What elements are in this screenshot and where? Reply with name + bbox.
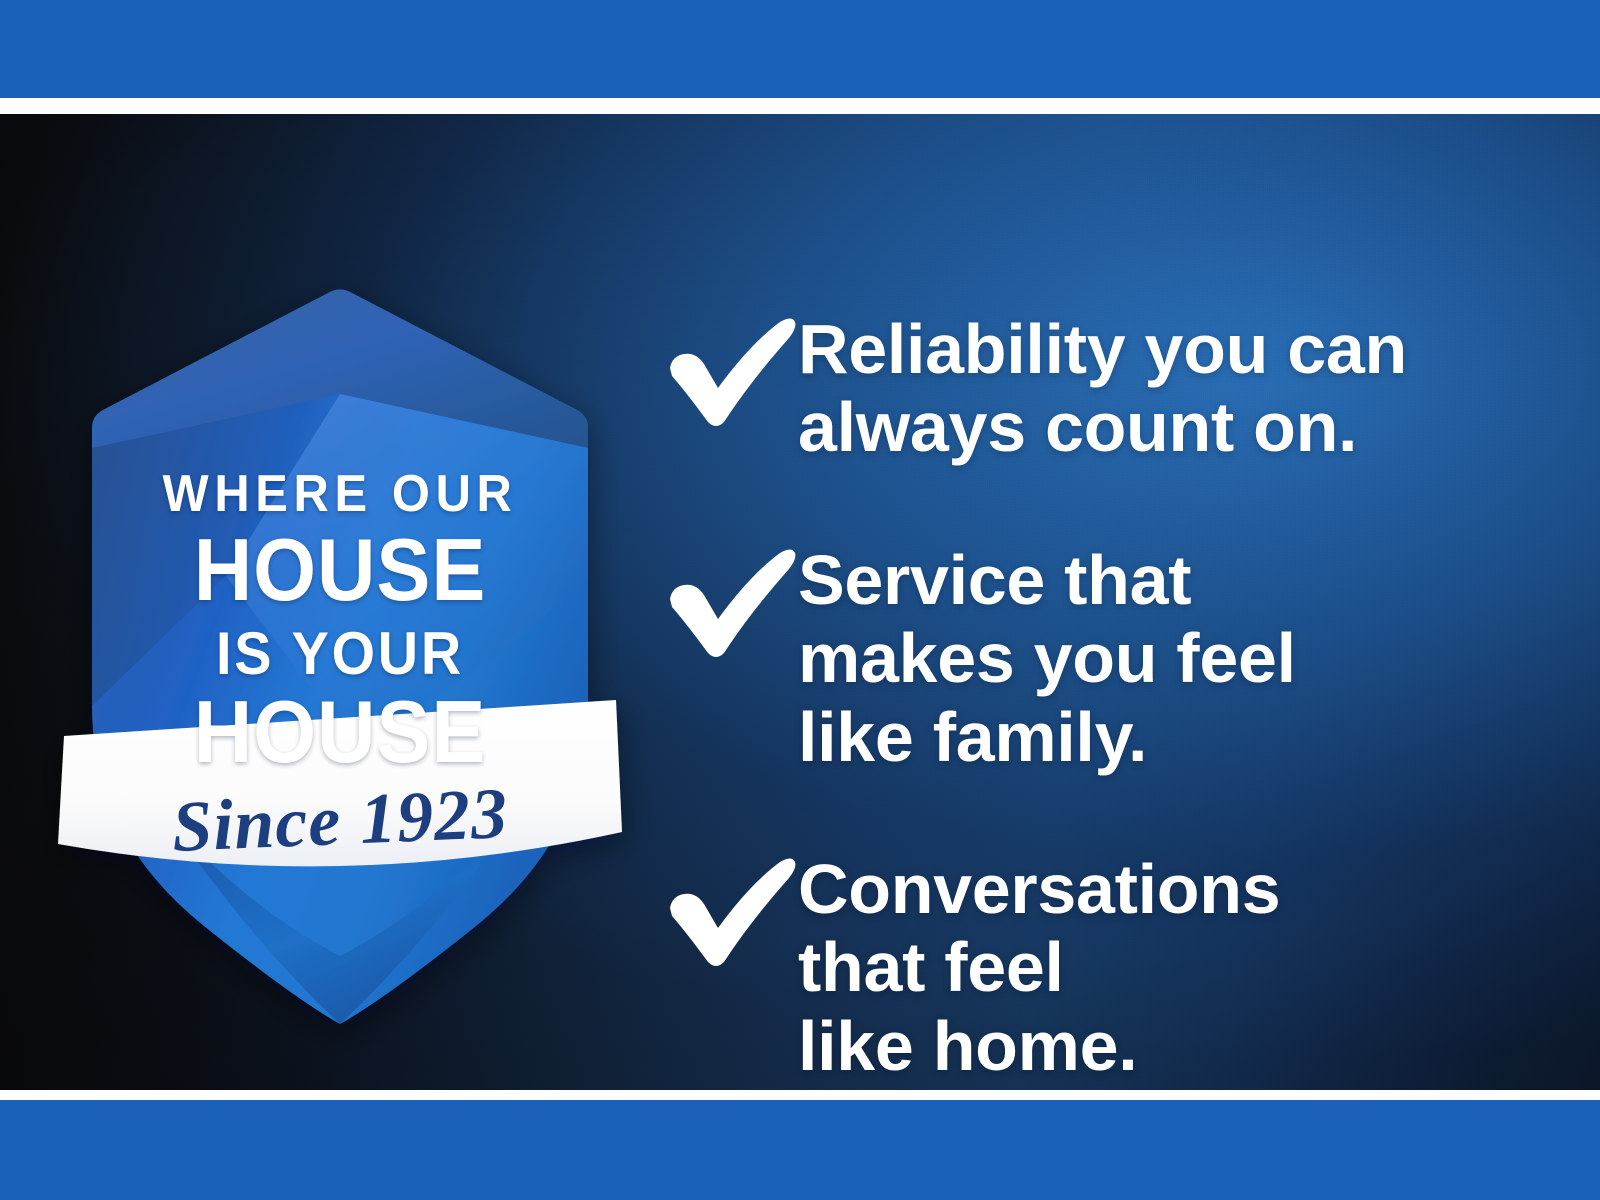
shield-line-where-our: Where our bbox=[73, 468, 607, 520]
list-item-label: Conversations that feel like home. bbox=[798, 850, 1562, 1085]
main-panel: Where our House Is your House Since 1923… bbox=[0, 114, 1600, 1090]
shield-line-house-top: House bbox=[79, 526, 602, 614]
list-item: Service that makes you feel like family. bbox=[662, 541, 1562, 776]
checkmark-icon bbox=[662, 547, 798, 659]
shield-line-house-bottom: House bbox=[79, 688, 602, 776]
checkmark-icon bbox=[662, 856, 798, 968]
bottom-brand-bar bbox=[0, 1100, 1600, 1200]
list-item-label: Service that makes you feel like family. bbox=[798, 541, 1562, 776]
shield-emblem: Where our House Is your House Since 1923 bbox=[56, 276, 624, 956]
benefits-list: Reliability you can always count on. Ser… bbox=[662, 310, 1562, 1085]
list-item: Conversations that feel like home. bbox=[662, 850, 1562, 1085]
top-brand-bar bbox=[0, 0, 1600, 98]
list-item: Reliability you can always count on. bbox=[662, 310, 1562, 467]
promo-graphic-canvas: Where our House Is your House Since 1923… bbox=[0, 0, 1600, 1200]
checkmark-icon bbox=[662, 316, 798, 428]
shield-line-is-your: Is your bbox=[76, 624, 604, 684]
list-item-label: Reliability you can always count on. bbox=[798, 310, 1562, 467]
